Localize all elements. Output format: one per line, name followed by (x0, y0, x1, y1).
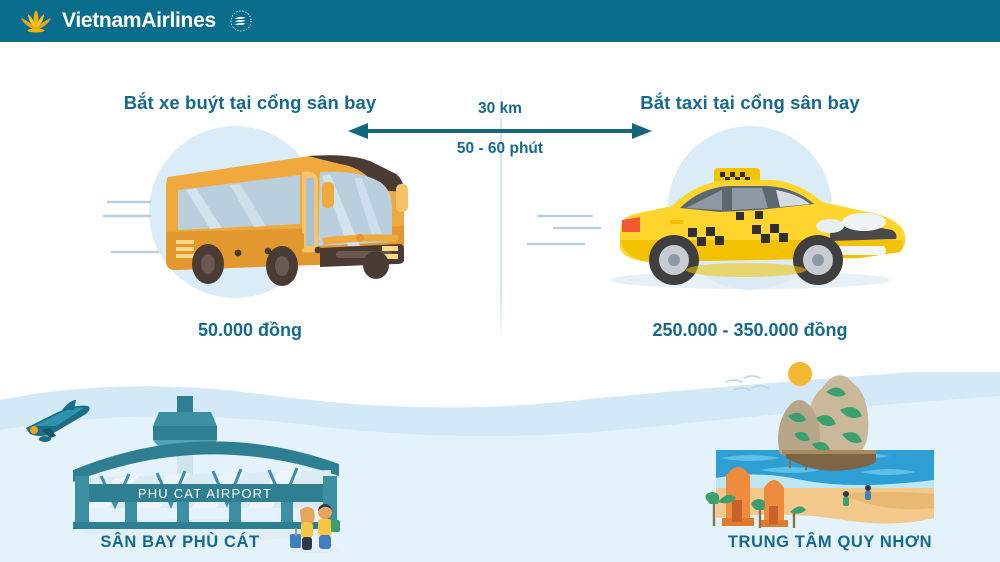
option-bus-price: 50.000 đồng (0, 320, 500, 341)
destination-label: TRUNG TÂM QUY NHƠN (705, 533, 955, 552)
option-taxi-price: 250.000 - 350.000 đồng (500, 320, 1000, 341)
option-bus[interactable]: Bắt xe buýt tại cổng sân bay (0, 42, 500, 372)
skyteam-icon (226, 6, 256, 36)
transport-options: Bắt xe buýt tại cổng sân bay (0, 42, 1000, 372)
brand-header: VietnamAirlines (0, 0, 1000, 42)
brand-logo: VietnamAirlines (18, 6, 256, 36)
origin-label: SÂN BAY PHÙ CÁT (55, 533, 305, 552)
option-taxi[interactable]: Bắt taxi tại cổng sân bay (500, 42, 1000, 372)
route-duration: 50 - 60 phút (400, 140, 600, 158)
airport-sign-text: PHU CAT AIRPORT (138, 486, 272, 501)
double-headed-arrow-icon (348, 123, 652, 139)
quy-nhon-beach-illustration (690, 358, 990, 538)
infographic-page: VietnamAirlines Bắt xe buýt tại cổng sân… (0, 0, 1000, 562)
route-distance: 30 km (400, 100, 600, 118)
lotus-icon (18, 8, 54, 34)
brand-name: VietnamAirlines (62, 9, 216, 33)
